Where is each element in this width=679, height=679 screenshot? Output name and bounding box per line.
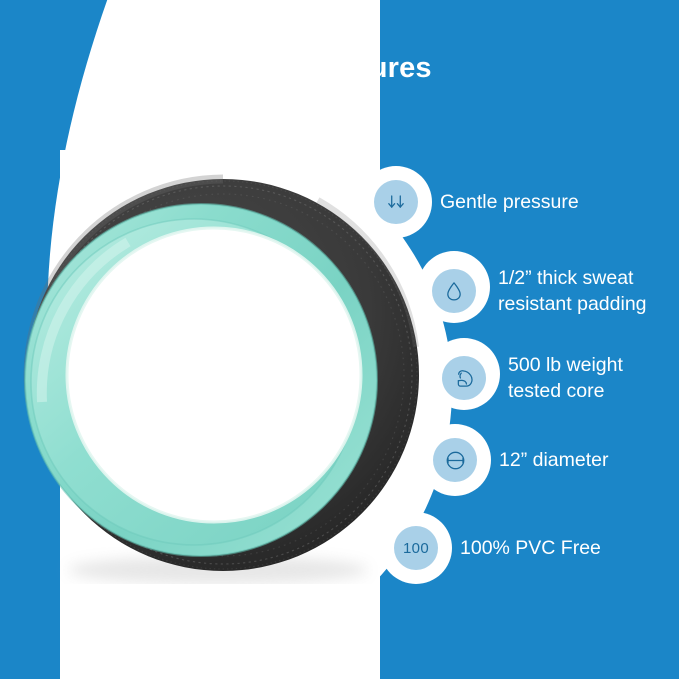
feature-label: 500 lb weight tested core xyxy=(508,352,623,404)
water-droplet-icon xyxy=(432,269,476,313)
feature-item-weight-tested-core[interactable]: 500 lb weight tested core xyxy=(442,352,623,404)
feature-label: 12” diameter xyxy=(499,447,608,473)
key-features-infographic: Key Features Gentle pressure 1/2” thick … xyxy=(0,0,679,679)
product-image-yoga-wheel xyxy=(18,172,428,584)
feature-item-gentle-pressure[interactable]: Gentle pressure xyxy=(374,180,579,224)
feature-label: Gentle pressure xyxy=(440,189,579,215)
diameter-circle-icon xyxy=(433,438,477,482)
page-title: Key Features xyxy=(0,52,679,85)
feature-item-diameter[interactable]: 12” diameter xyxy=(433,438,608,482)
feature-label: 1/2” thick sweat resistant padding xyxy=(498,265,647,317)
double-down-arrow-icon xyxy=(374,180,418,224)
hundred-badge-text: 100 xyxy=(403,540,429,557)
feature-item-sweat-resistant-padding[interactable]: 1/2” thick sweat resistant padding xyxy=(432,265,647,317)
hundred-badge-icon: 100 xyxy=(394,526,438,570)
feature-label: 100% PVC Free xyxy=(460,535,601,561)
flexed-bicep-icon xyxy=(442,356,486,400)
feature-item-pvc-free[interactable]: 100 100% PVC Free xyxy=(394,526,601,570)
